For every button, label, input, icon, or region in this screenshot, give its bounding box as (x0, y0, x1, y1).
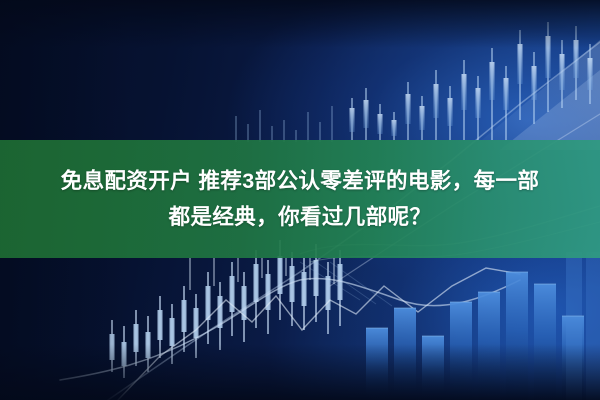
headline-band: 免息配资开户 推荐3部公认零差评的电影，每一部 都是经典，你看过几部呢？ (0, 140, 600, 258)
headline-line-1: 免息配资开户 推荐3部公认零差评的电影，每一部 (0, 163, 600, 199)
banner-root: 免息配资开户 推荐3部公认零差评的电影，每一部 都是经典，你看过几部呢？ (0, 0, 600, 400)
headline-text-block: 免息配资开户 推荐3部公认零差评的电影，每一部 都是经典，你看过几部呢？ (0, 163, 600, 235)
headline-line-2: 都是经典，你看过几部呢？ (0, 199, 600, 235)
